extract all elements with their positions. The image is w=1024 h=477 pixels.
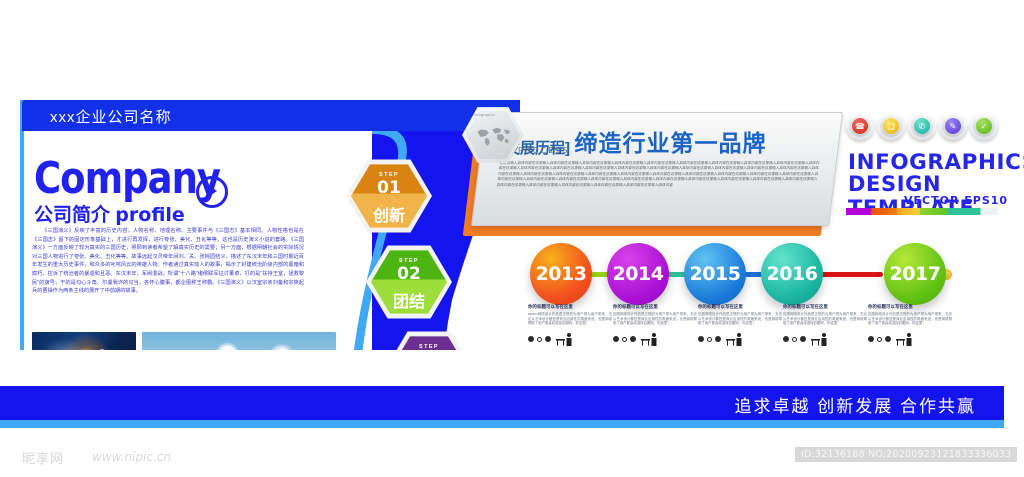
timeline-caption-body-2015: 包图网络设计作品是正规的为用户带为用户带来，无论从艺术设计都还是商业应用性的角度… [698, 312, 782, 326]
world-map-icon [462, 112, 524, 160]
process-headline: 缔造行业第一品牌 [574, 124, 766, 158]
timeline-year-2016: 2016 [761, 263, 823, 285]
image-glyph: ❑ [883, 118, 899, 134]
timeline-caption-2015: 你的标题可以写在这里 包图网络设计作品是正规的为用户带为用户带来，无论从艺术设计… [698, 304, 782, 326]
check-glyph: ✓ [976, 118, 992, 134]
company-title-group: Company [34, 165, 334, 199]
timeline-connector-4 [819, 272, 883, 277]
timeline-dots-2014 [613, 336, 636, 342]
watermark-logo: 昵享网 [22, 448, 64, 467]
brand-gradient-bar [846, 208, 998, 215]
bottom-slogan: 追求卓越 创新发展 合作共赢 [735, 392, 976, 417]
timeline-caption-body-2014: 包图网络设计作品是正规的为用户带为用户带来，无论从艺术设计都还是商业应用性的角度… [613, 312, 697, 326]
bottom-white-mask [0, 350, 580, 430]
watermark-id: ID:32136188 NO:20200923121833336033 [795, 447, 1017, 462]
process-subtitle: PROCESS [518, 146, 569, 155]
timeline-dots-2016 [783, 336, 806, 342]
desk-person-icon-2016 [811, 333, 829, 346]
process-body-text: 在这里输入具体内容在这里输入具体内容在这里输入具体内容在这里输入具体内容在这里输… [496, 161, 819, 188]
timeline-dots-2013 [528, 336, 551, 342]
desk-person-icon-2013 [556, 333, 574, 346]
step-hexagon-1[interactable]: STEP 01 创新 [346, 158, 432, 234]
timeline-circle-2014[interactable]: 2014 [607, 243, 669, 305]
headphone-glyph: ☎ [852, 118, 868, 134]
pen-badge-icon[interactable]: ✎ [939, 112, 967, 140]
timeline-circle-2015[interactable]: 2015 [684, 243, 746, 305]
timeline-caption-2014: 你的标题可以写在这里 包图网络设计作品是正规的为用户带为用户带来，无论从艺术设计… [613, 304, 697, 326]
timeline-caption-title-2013: 你的标题可以写在这里 [528, 304, 612, 310]
headphone-badge-icon[interactable]: ☎ [846, 112, 874, 140]
timeline-year-2015: 2015 [684, 263, 746, 285]
timeline-year-2013: 2013 [530, 263, 592, 285]
desk-person-icon-2015 [726, 333, 744, 346]
timeline-circle-2017[interactable]: 2017 [884, 243, 946, 305]
timeline-caption-title-2016: 你的标题可以写在这里 [783, 304, 867, 310]
step-number-1: 01 [346, 178, 432, 198]
desk-person-icon-2014 [641, 333, 659, 346]
timeline-caption-2013: 你的标题可以写在这里 включ网络设计作品是正规的为用户带为用户带来，无论从艺… [528, 304, 612, 326]
timeline-caption-2016: 你的标题可以写在这里 包图网络设计作品是正规的为用户带为用户带来，无论从艺术设计… [783, 304, 867, 326]
timeline-caption-title-2015: 你的标题可以写在这里 [698, 304, 782, 310]
step-hexagon-2[interactable]: STEP 02 团结 [366, 244, 452, 320]
timeline-caption-title-2014: 你的标题可以写在这里 [613, 304, 697, 310]
timeline-caption-body-2013: включ网络设计作品是正规的为用户带为用户带来，无论从艺术设计都还是商业应用性… [528, 312, 612, 326]
company-header-title: xxx企业公司名称 [50, 106, 172, 127]
check-badge-icon[interactable]: ✓ [970, 112, 998, 140]
phone-badge-icon[interactable]: ✆ [908, 112, 936, 140]
play-icon[interactable] [196, 176, 228, 208]
step-name-2: 团结 [366, 288, 452, 312]
company-title-en: Company [34, 159, 220, 199]
company-body-text: 《三国演义》反映了丰富的历史内容，人物名称、地理名称、主要事件与《三国志》基本相… [32, 227, 304, 296]
timeline-dots-2015 [698, 336, 721, 342]
desk-person-icon-2017 [896, 333, 914, 346]
image-badge-icon[interactable]: ❑ [877, 112, 905, 140]
pen-glyph: ✎ [945, 118, 961, 134]
timeline-circle-2013[interactable]: 2013 [530, 243, 592, 305]
timeline-caption-2017: 你的标题可以写在这里 包图网络设计作品是正规的为用户带为用户带来，无论从艺术设计… [868, 304, 952, 326]
brand-line-3: VECTOR EPS10 [904, 194, 1008, 207]
timeline-caption-title-2017: 你的标题可以写在这里 [868, 304, 952, 310]
phone-glyph: ✆ [914, 118, 930, 134]
step-number-2: 02 [366, 264, 452, 284]
timeline-year-2014: 2014 [607, 263, 669, 285]
timeline-circle-2016[interactable]: 2016 [761, 243, 823, 305]
world-map-hexagon: infographic [462, 106, 524, 164]
timeline-dots-2017 [868, 336, 891, 342]
step-name-1: 创新 [346, 202, 432, 226]
company-title-profile: profile [115, 204, 185, 226]
badge-row: ☎ ❑ ✆ ✎ ✓ [846, 112, 998, 140]
watermark-url: www.nipic.cn [92, 450, 171, 464]
brand-line-1: INFOGRAPHICS [848, 150, 1024, 174]
company-title-cn: 公司简介 profile [34, 200, 185, 227]
company-title-cn-text: 公司简介 [34, 205, 110, 226]
timeline-year-2017: 2017 [884, 263, 946, 285]
timeline-caption-body-2017: 包图网络设计作品是正规的为用户带为用户带来，无论从艺术设计都还是商业应用性的角度… [868, 312, 952, 326]
timeline-caption-body-2016: 包图网络设计作品是正规的为用户带为用户带来，无论从艺术设计都还是商业应用性的角度… [783, 312, 867, 326]
poster-canvas: xxx企业公司名称 Company 公司简介 profile 《三国演义》反映了… [0, 0, 1024, 477]
